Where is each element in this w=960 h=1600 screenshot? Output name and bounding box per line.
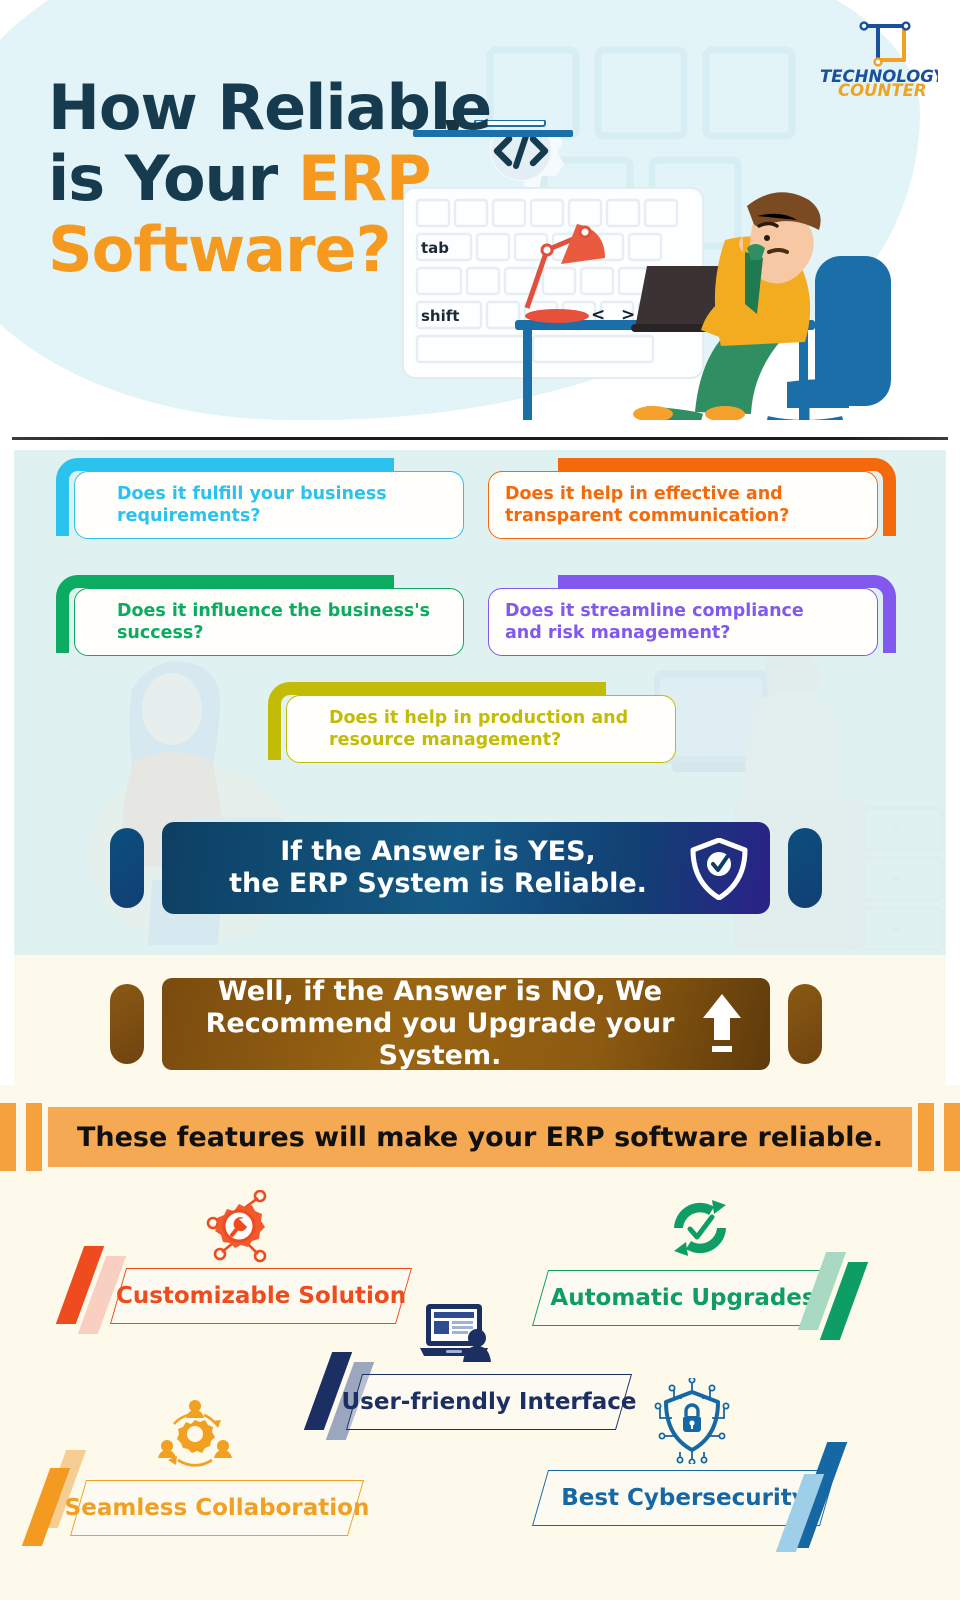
no-banner-body: Well, if the Answer is NO, We Recommend … <box>162 978 770 1070</box>
question-card-3-panel: Does it influence the business's success… <box>74 588 464 656</box>
yes-banner-line-2: the ERP System is Reliable. <box>229 868 647 900</box>
logo-text-counter: COUNTER <box>838 81 927 98</box>
features-header-text: These features will make your ERP softwa… <box>77 1122 883 1153</box>
features-header-band: These features will make your ERP softwa… <box>48 1107 912 1167</box>
hero-divider <box>12 437 948 440</box>
question-card-1[interactable]: Does it fulfill your business requiremen… <box>56 458 464 540</box>
features-header-bar-left-outer <box>0 1103 16 1171</box>
features-header-bar-right-inner <box>918 1103 934 1171</box>
question-card-2-panel: Does it help in effective and transparen… <box>488 471 878 539</box>
keyboard-key-shift: shift <box>421 307 459 325</box>
question-card-5[interactable]: Does it help in production and resource … <box>268 682 676 764</box>
yes-banner-left-pill <box>110 828 144 908</box>
yes-answer-banner[interactable]: If the Answer is YES, the ERP System is … <box>110 822 822 914</box>
shield-check-icon <box>690 838 748 900</box>
infographic-page: TECHNOLOGY COUNTER <box>0 0 960 1600</box>
gear-people-icon <box>158 1398 232 1470</box>
question-card-3[interactable]: Does it influence the business's success… <box>56 575 464 657</box>
hero-title: How Reliable is Your ERP Software? <box>48 76 608 282</box>
no-banner-line-2: Recommend you Upgrade your System. <box>162 1008 718 1072</box>
features-header-banner: These features will make your ERP softwa… <box>0 1103 960 1171</box>
feature-best-cybersecurity[interactable]: Best Cybersecurity <box>540 1378 880 1528</box>
shield-lock-circuit-icon <box>650 1378 734 1464</box>
technology-counter-logo: TECHNOLOGY COUNTER <box>818 16 938 98</box>
question-card-4-panel: Does it streamline compliance and risk m… <box>488 588 878 656</box>
no-banner-line-1: Well, if the Answer is NO, We <box>162 976 718 1008</box>
no-banner-right-pill <box>788 984 822 1064</box>
no-answer-banner[interactable]: Well, if the Answer is NO, We Recommend … <box>110 978 822 1070</box>
gear-wrench-network-icon <box>196 1190 282 1268</box>
question-card-5-panel: Does it help in production and resource … <box>286 695 676 763</box>
yes-banner-text: If the Answer is YES, the ERP System is … <box>229 836 703 900</box>
yes-banner-right-pill <box>788 828 822 908</box>
yes-banner-line-1: If the Answer is YES, <box>229 836 647 868</box>
no-banner-left-pill <box>110 984 144 1064</box>
question-card-5-text: Does it help in production and resource … <box>287 707 675 752</box>
question-card-4[interactable]: Does it streamline compliance and risk m… <box>488 575 896 657</box>
yes-banner-body: If the Answer is YES, the ERP System is … <box>162 822 770 914</box>
feature-4-label: Seamless Collaboration <box>78 1480 356 1536</box>
hero-title-erp: ERP <box>298 142 431 215</box>
question-card-2[interactable]: Does it help in effective and transparen… <box>488 458 896 540</box>
features-header-bar-right-outer <box>944 1103 960 1171</box>
question-card-1-panel: Does it fulfill your business requiremen… <box>74 471 464 539</box>
question-card-4-text: Does it streamline compliance and risk m… <box>489 600 877 645</box>
upgrade-arrow-icon <box>700 992 744 1056</box>
refresh-check-icon <box>662 1192 738 1264</box>
question-card-3-text: Does it influence the business's success… <box>75 600 463 645</box>
feature-5-label: Best Cybersecurity <box>540 1470 828 1526</box>
question-card-1-text: Does it fulfill your business requiremen… <box>75 483 463 528</box>
hero-title-line-3: Software? <box>48 218 608 281</box>
hero-title-line-1: How Reliable <box>48 76 608 139</box>
hero-title-line-2-prefix: is Your <box>48 142 298 215</box>
features-header-bar-left-inner <box>26 1103 42 1171</box>
laptop-user-icon <box>418 1300 496 1364</box>
feature-seamless-collaboration[interactable]: Seamless Collaboration <box>36 1398 356 1538</box>
hero-section: TECHNOLOGY COUNTER <box>0 0 960 430</box>
no-banner-text: Well, if the Answer is NO, We Recommend … <box>162 976 770 1072</box>
hero-title-line-2: is Your ERP <box>48 147 608 210</box>
question-card-2-text: Does it help in effective and transparen… <box>489 483 877 528</box>
